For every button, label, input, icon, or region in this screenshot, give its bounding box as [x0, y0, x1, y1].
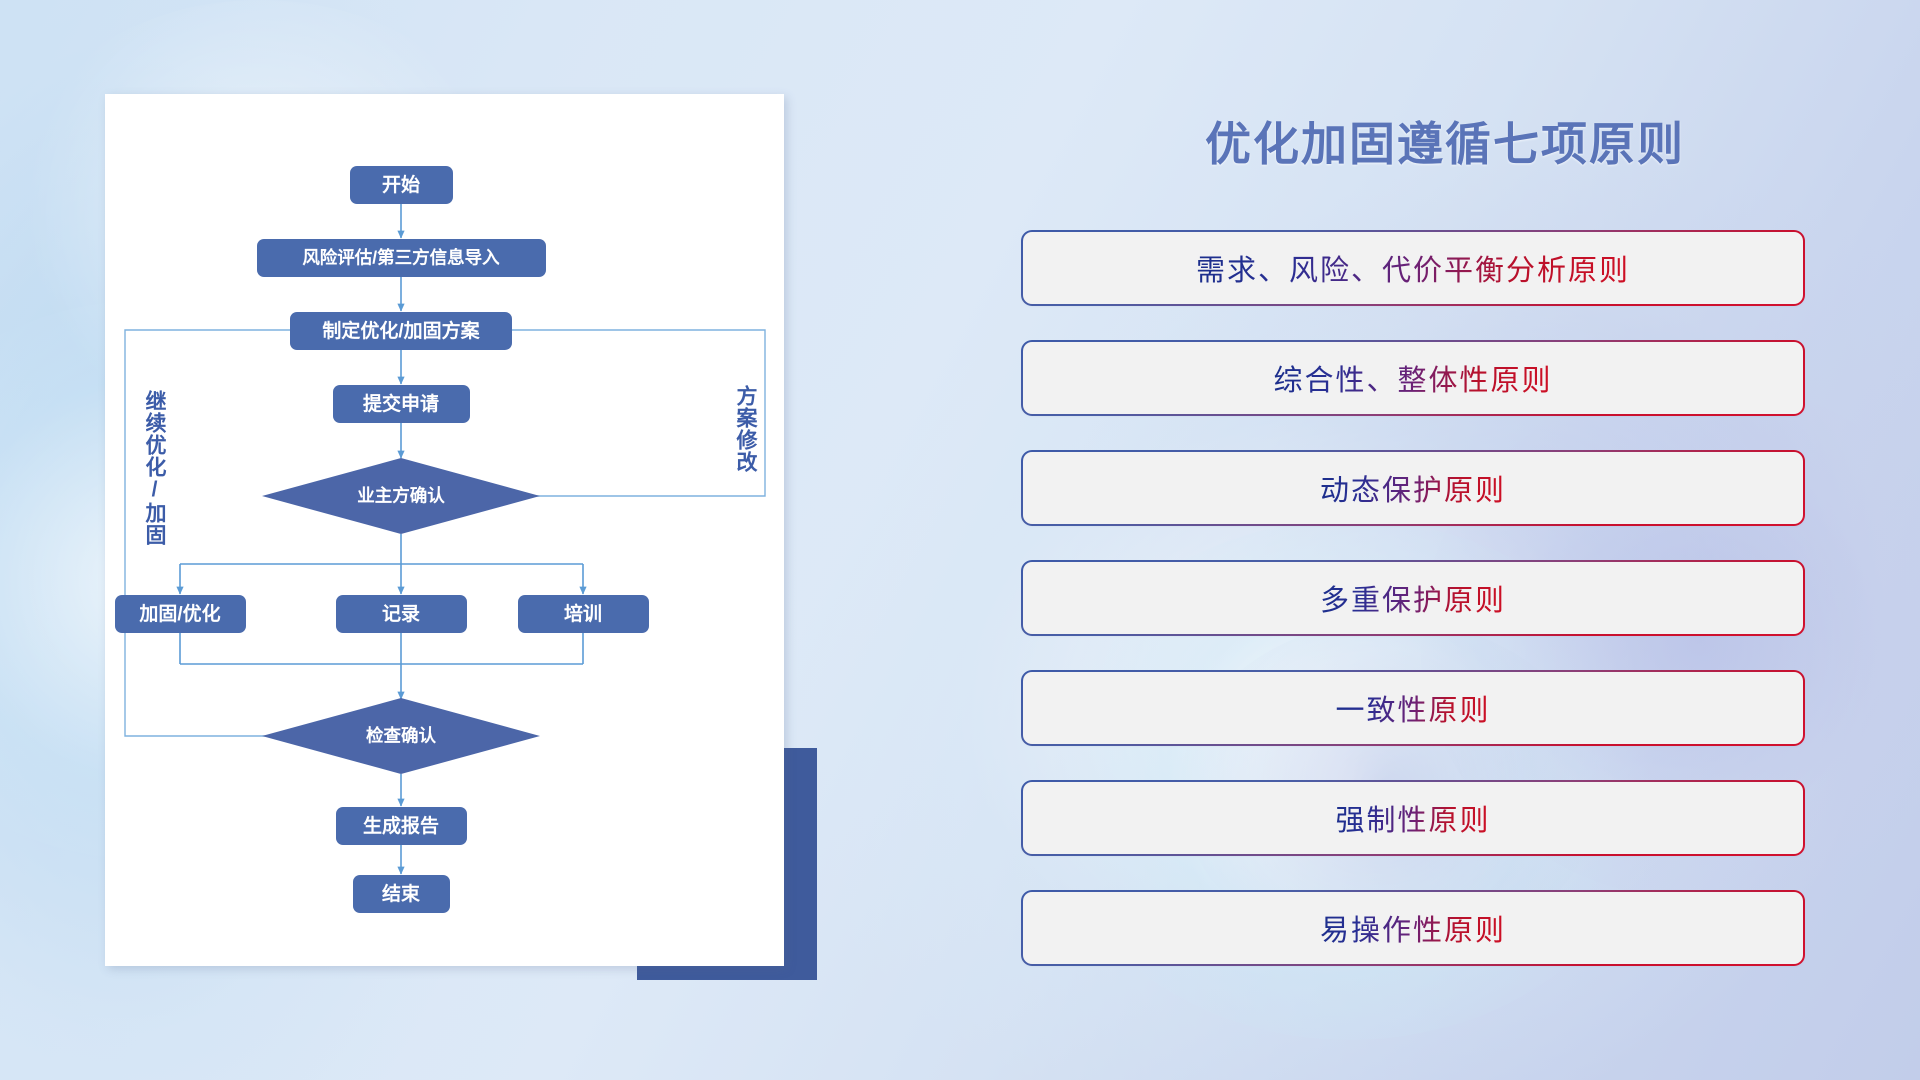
svg-text:风险评估/第三方信息导入: 风险评估/第三方信息导入	[302, 248, 500, 268]
svg-text:结束: 结束	[382, 882, 421, 905]
slide-canvas: 开始 风险评估/第三方信息导入 制定优化/加固方案 提交申请 业主方确认 加固/	[0, 0, 1920, 1080]
flow-side-label-right: 方案修改	[735, 385, 756, 473]
principle-label: 综合性、整体性原则	[1273, 357, 1552, 399]
svg-text:提交申请: 提交申请	[363, 392, 439, 415]
principle-label: 动态保护原则	[1320, 467, 1506, 509]
principle-label: 易操作性原则	[1320, 907, 1506, 949]
flow-node-risk-assessment: 风险评估/第三方信息导入	[257, 239, 546, 277]
svg-text:开始: 开始	[382, 173, 420, 196]
principle-card-7[interactable]: 易操作性原则	[1023, 892, 1803, 964]
flow-node-reinforce: 加固/优化	[115, 595, 246, 633]
principle-label: 多重保护原则	[1320, 577, 1506, 619]
flow-connectors	[125, 204, 765, 874]
svg-text:制定优化/加固方案: 制定优化/加固方案	[322, 319, 480, 342]
svg-text:生成报告: 生成报告	[363, 814, 439, 837]
flow-node-training: 培训	[518, 595, 649, 633]
flowchart-card: 开始 风险评估/第三方信息导入 制定优化/加固方案 提交申请 业主方确认 加固/	[105, 94, 784, 966]
flow-node-owner-confirm: 业主方确认	[262, 458, 540, 534]
flow-node-submit: 提交申请	[333, 385, 470, 423]
flow-node-record: 记录	[336, 595, 467, 633]
svg-text:培训: 培训	[564, 602, 602, 625]
principle-card-3[interactable]: 动态保护原则	[1023, 452, 1803, 524]
page-title: 优化加固遵循七项原则	[1005, 108, 1885, 174]
principle-label: 一致性原则	[1335, 687, 1490, 729]
flow-node-report: 生成报告	[336, 807, 467, 845]
svg-text:业主方确认: 业主方确认	[357, 486, 445, 506]
principle-card-1[interactable]: 需求、风险、代价平衡分析原则	[1023, 232, 1803, 304]
flow-node-end: 结束	[353, 875, 450, 913]
flow-side-label-left: 继续优化/加固	[144, 390, 165, 546]
flow-node-plan: 制定优化/加固方案	[290, 312, 512, 350]
flowchart-diagram: 开始 风险评估/第三方信息导入 制定优化/加固方案 提交申请 业主方确认 加固/	[105, 94, 784, 966]
principle-card-list: 需求、风险、代价平衡分析原则 综合性、整体性原则 动态保护原则 多重保护原则 一…	[1023, 232, 1803, 1002]
svg-text:检查确认: 检查确认	[366, 726, 436, 746]
svg-text:加固/优化: 加固/优化	[138, 602, 220, 625]
principle-label: 强制性原则	[1335, 797, 1490, 839]
principle-card-5[interactable]: 一致性原则	[1023, 672, 1803, 744]
principle-card-4[interactable]: 多重保护原则	[1023, 562, 1803, 634]
svg-text:记录: 记录	[382, 603, 420, 625]
principle-card-6[interactable]: 强制性原则	[1023, 782, 1803, 854]
flow-node-check-confirm: 检查确认	[262, 698, 540, 774]
flow-node-start: 开始	[350, 166, 453, 204]
principle-label: 需求、风险、代价平衡分析原则	[1196, 247, 1630, 289]
principle-card-2[interactable]: 综合性、整体性原则	[1023, 342, 1803, 414]
